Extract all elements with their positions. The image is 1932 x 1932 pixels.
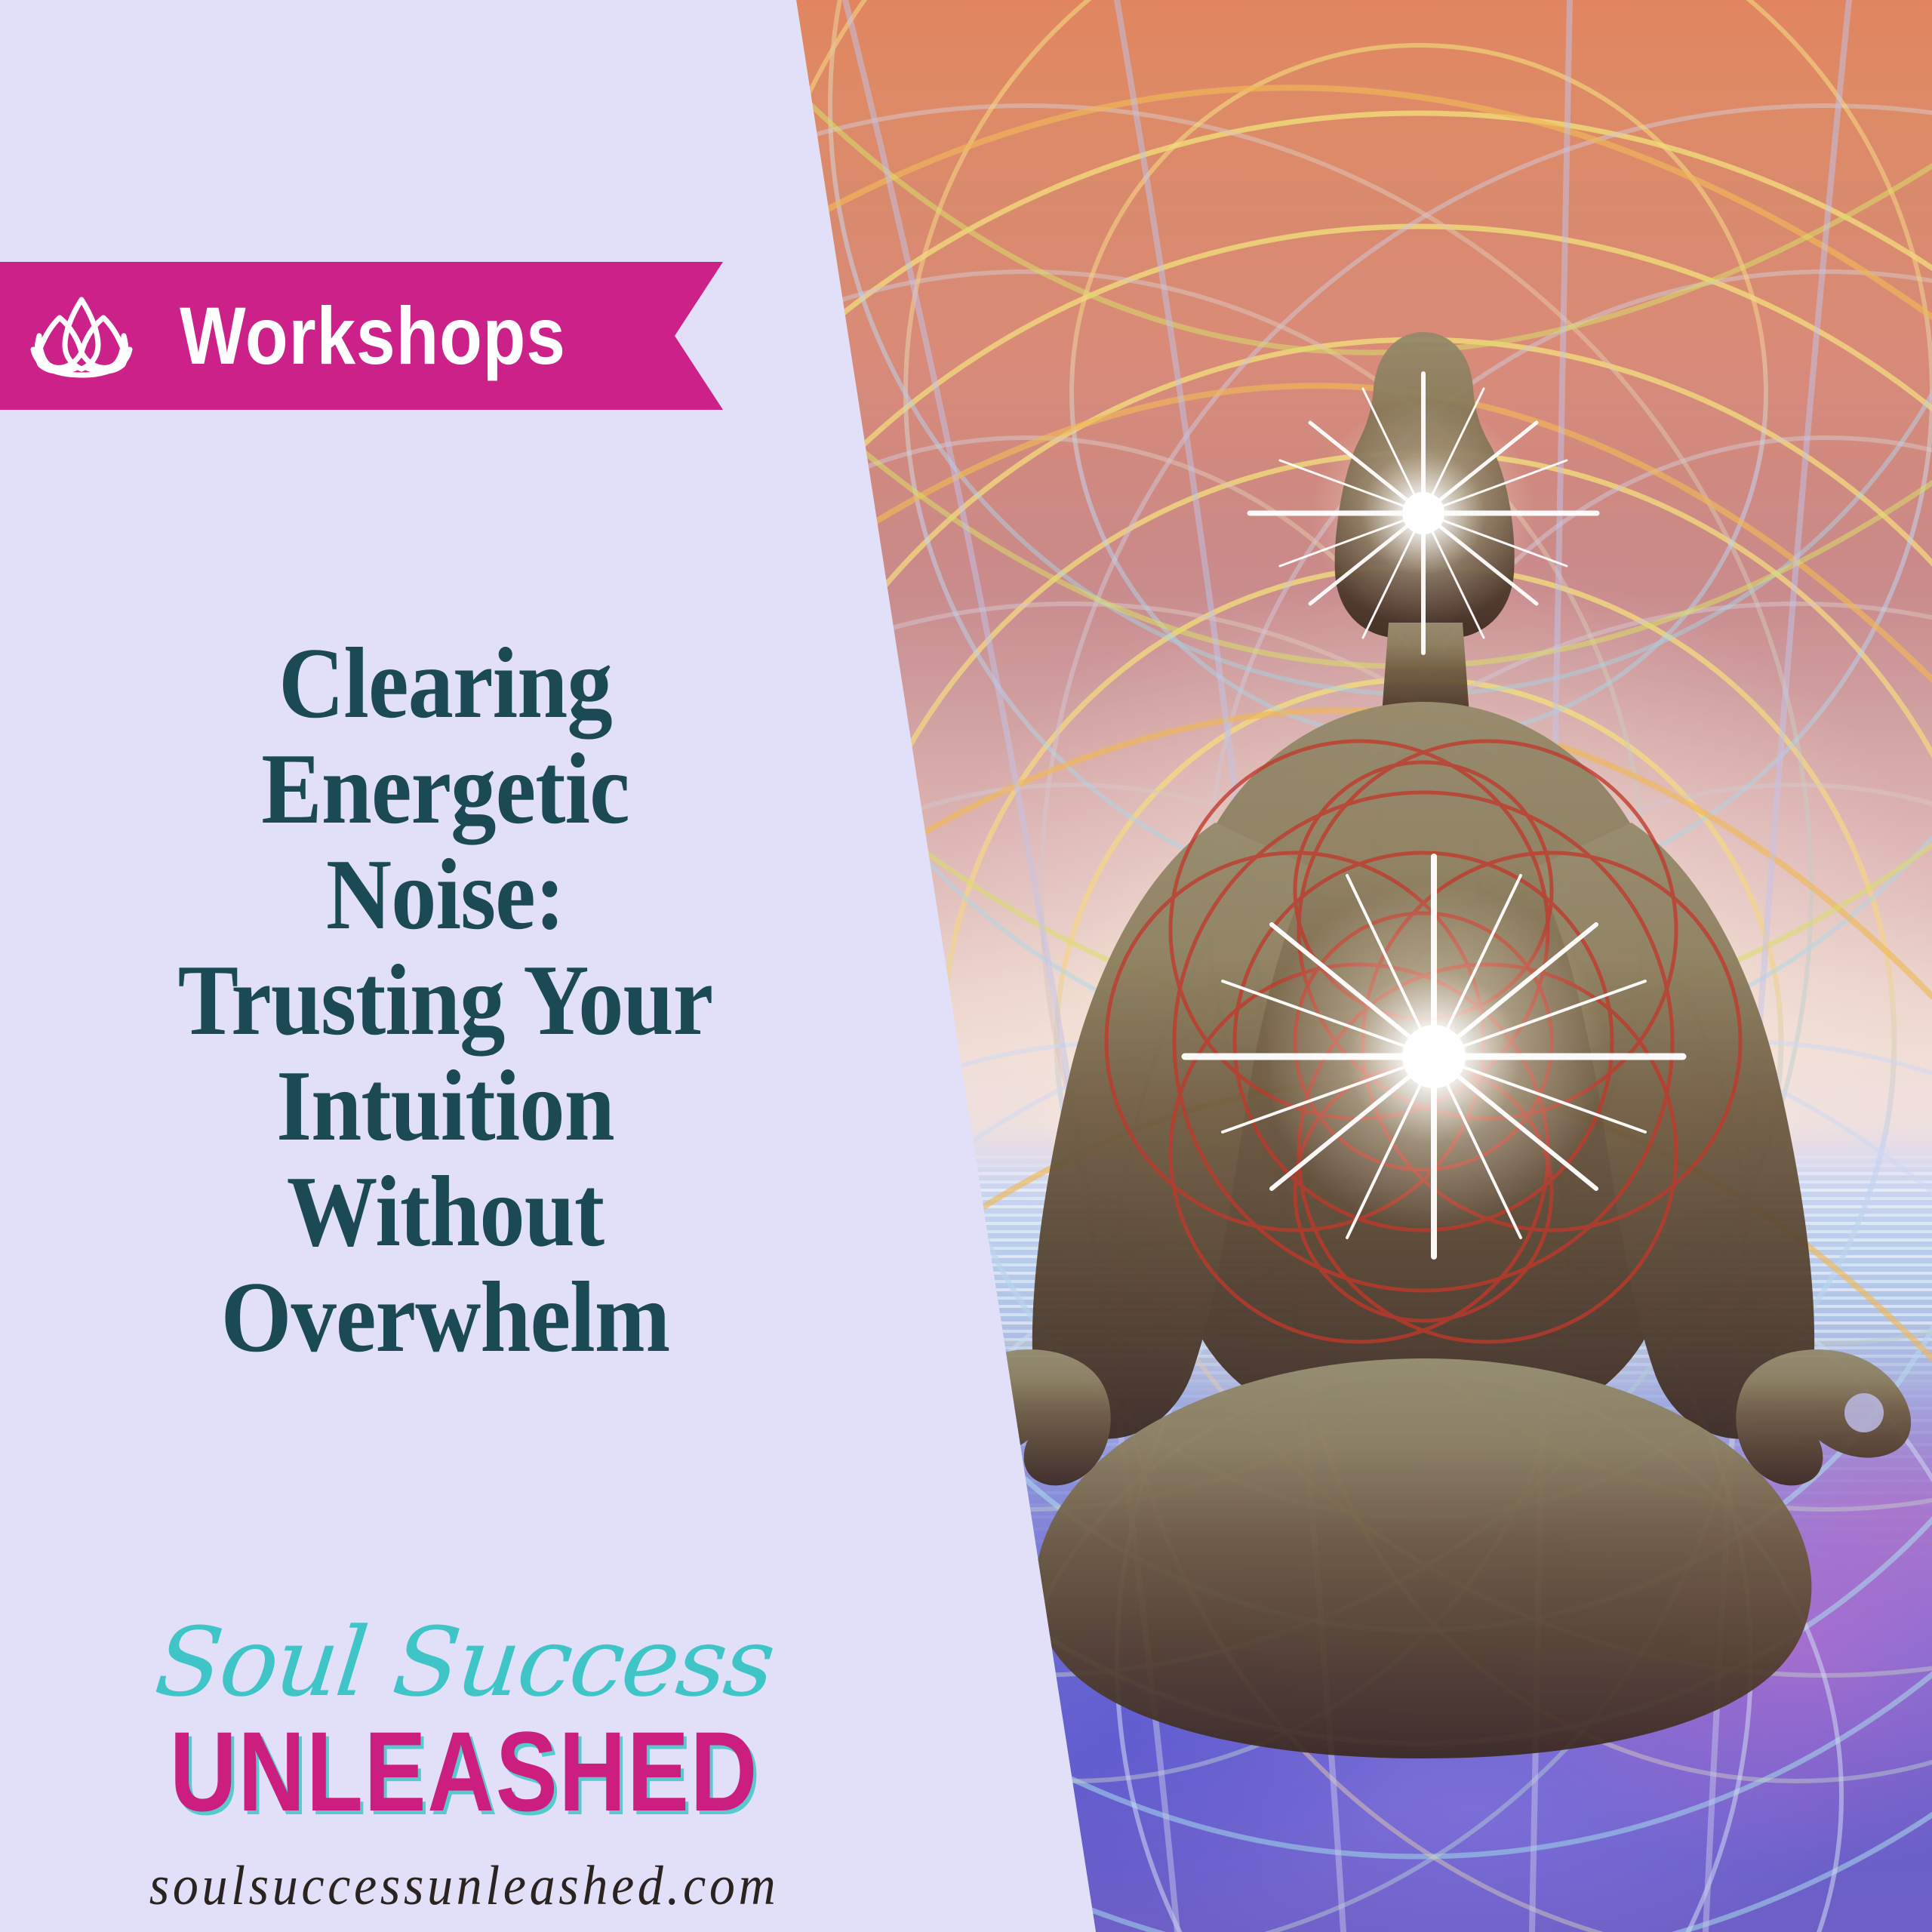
logo-url: soulsuccessunleashed.com <box>37 1858 891 1914</box>
category-ribbon[interactable]: Workshops <box>0 262 723 410</box>
ribbon-label: Workshops <box>180 295 566 377</box>
logo-wordmark: UNLEASHED <box>84 1715 845 1828</box>
page-title: Clearing Energetic Noise: Trusting Your … <box>45 630 846 1370</box>
poster-canvas: Workshops Clearing Energetic Noise: Trus… <box>0 0 1932 1932</box>
lotus-icon <box>29 291 134 381</box>
logo-script-text: Soul Success <box>151 1615 777 1710</box>
brand-logo[interactable]: Soul Success UNLEASHED soulsuccessunleas… <box>0 1615 928 1914</box>
